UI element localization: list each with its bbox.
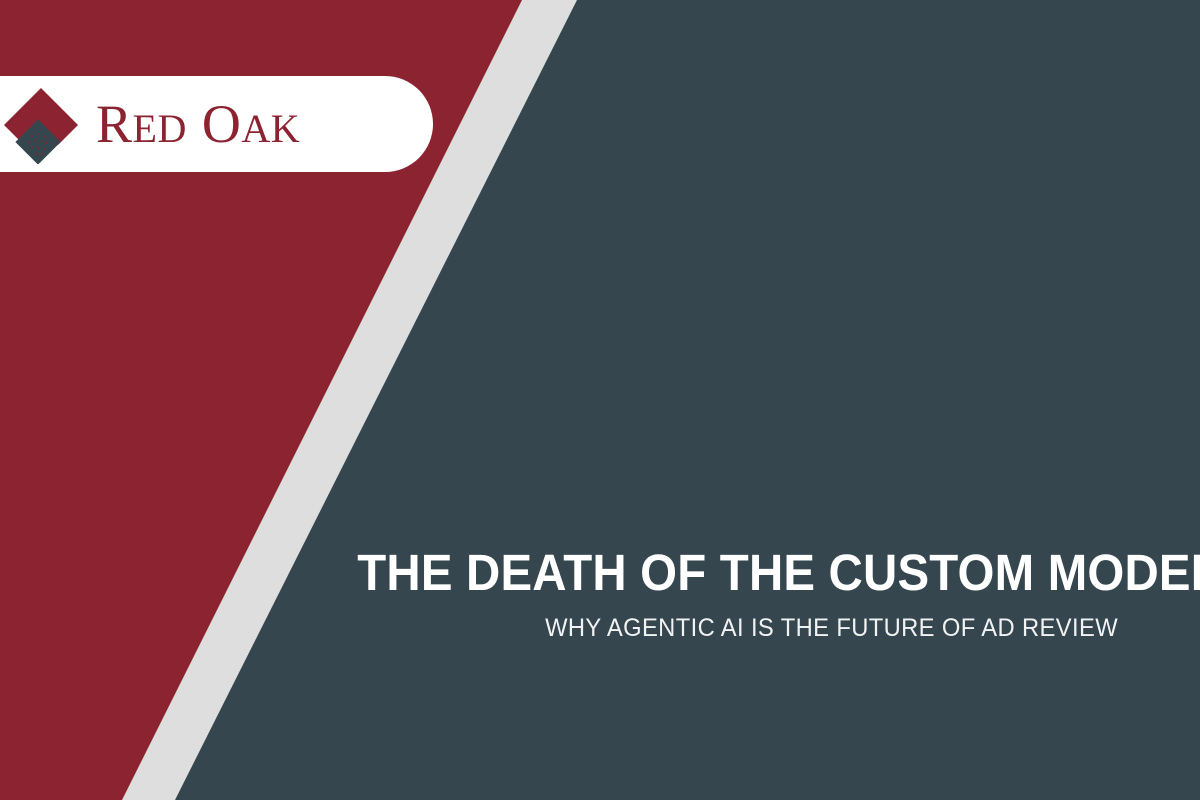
logo-content: REDOAK [0,76,300,172]
wordmark-r: R [96,97,133,151]
wordmark-ak: AK [241,109,300,149]
wordmark-ed: ED [133,109,187,149]
red-oak-diamond-icon [0,84,82,164]
title-slide: REDOAK THE DEATH OF THE CUSTOM MODEL WHY… [0,0,1200,800]
red-oak-wordmark: REDOAK [96,97,300,151]
headline-block: THE DEATH OF THE CUSTOM MODEL WHY AGENTI… [300,546,1118,642]
red-oak-logo-badge: REDOAK [0,76,433,172]
wordmark-o: O [202,97,242,151]
page-title: THE DEATH OF THE CUSTOM MODEL [357,546,1118,600]
page-subtitle: WHY AGENTIC AI IS THE FUTURE OF AD REVIE… [341,614,1118,642]
